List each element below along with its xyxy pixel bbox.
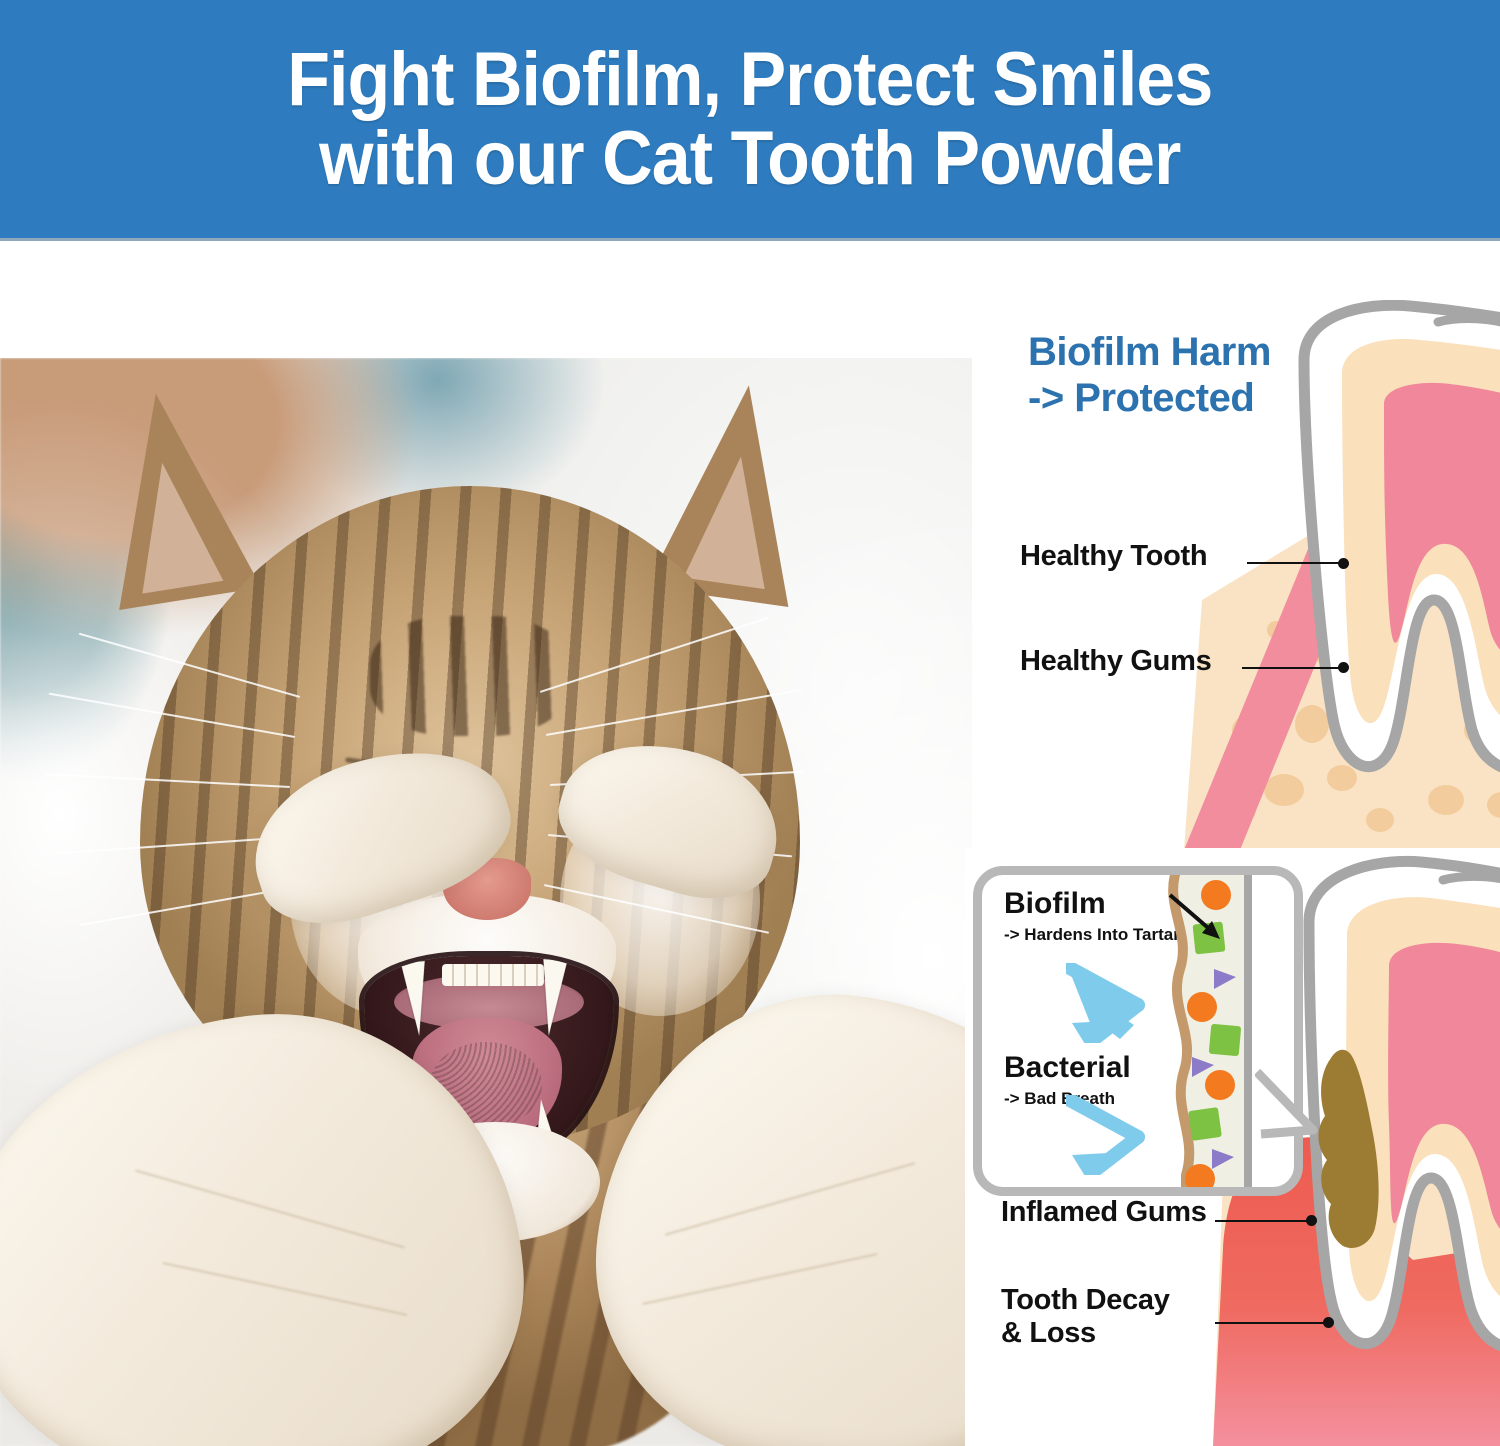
header-banner: Fight Biofilm, Protect Smiles with our C…: [0, 0, 1500, 238]
biofilm-arrow-lower: [1066, 1095, 1166, 1175]
banner-divider: [0, 238, 1500, 241]
cat-photo: [0, 358, 972, 1446]
callout-heading-bacterial: Bacterial: [1004, 1051, 1131, 1085]
cat-canine-upper-right: [537, 959, 568, 1037]
leader-line-healthy-tooth: [1247, 562, 1342, 564]
leader-dot-healthy-tooth: [1338, 558, 1349, 569]
cat-upper-incisors: [442, 964, 544, 986]
callout-tail: [1255, 1066, 1345, 1176]
cat-canine-upper-left: [401, 961, 431, 1037]
leader-line-tooth-decay: [1215, 1322, 1327, 1324]
leader-line-healthy-gums: [1242, 667, 1342, 669]
biofilm-pointer-arrow: [1168, 893, 1238, 953]
healthy-tooth-graphic: [1184, 300, 1500, 850]
leader-line-inflamed-gums: [1215, 1220, 1310, 1222]
leader-dot-tooth-decay: [1323, 1317, 1334, 1328]
leader-dot-healthy-gums: [1338, 662, 1349, 673]
biofilm-arrow-upper: [1066, 963, 1166, 1043]
label-healthy-gums: Healthy Gums: [1020, 645, 1211, 678]
biofilm-callout-box: Biofilm -> Hardens Into Tartar Bacterial…: [973, 866, 1303, 1196]
page-title: Fight Biofilm, Protect Smiles with our C…: [251, 40, 1250, 198]
label-healthy-tooth: Healthy Tooth: [1020, 540, 1207, 573]
leader-dot-inflamed-gums: [1306, 1215, 1317, 1226]
cat-forehead-stripes: [370, 616, 570, 736]
healthy-tooth-diagram: Biofilm Harm -> Protected: [972, 300, 1500, 850]
diseased-tooth-diagram: Biofilm -> Hardens Into Tartar Bacterial…: [965, 848, 1500, 1446]
label-inflamed-gums: Inflamed Gums: [1001, 1196, 1207, 1229]
label-tooth-decay: Tooth Decay & Loss: [1001, 1284, 1170, 1350]
callout-heading-biofilm: Biofilm: [1004, 887, 1106, 921]
